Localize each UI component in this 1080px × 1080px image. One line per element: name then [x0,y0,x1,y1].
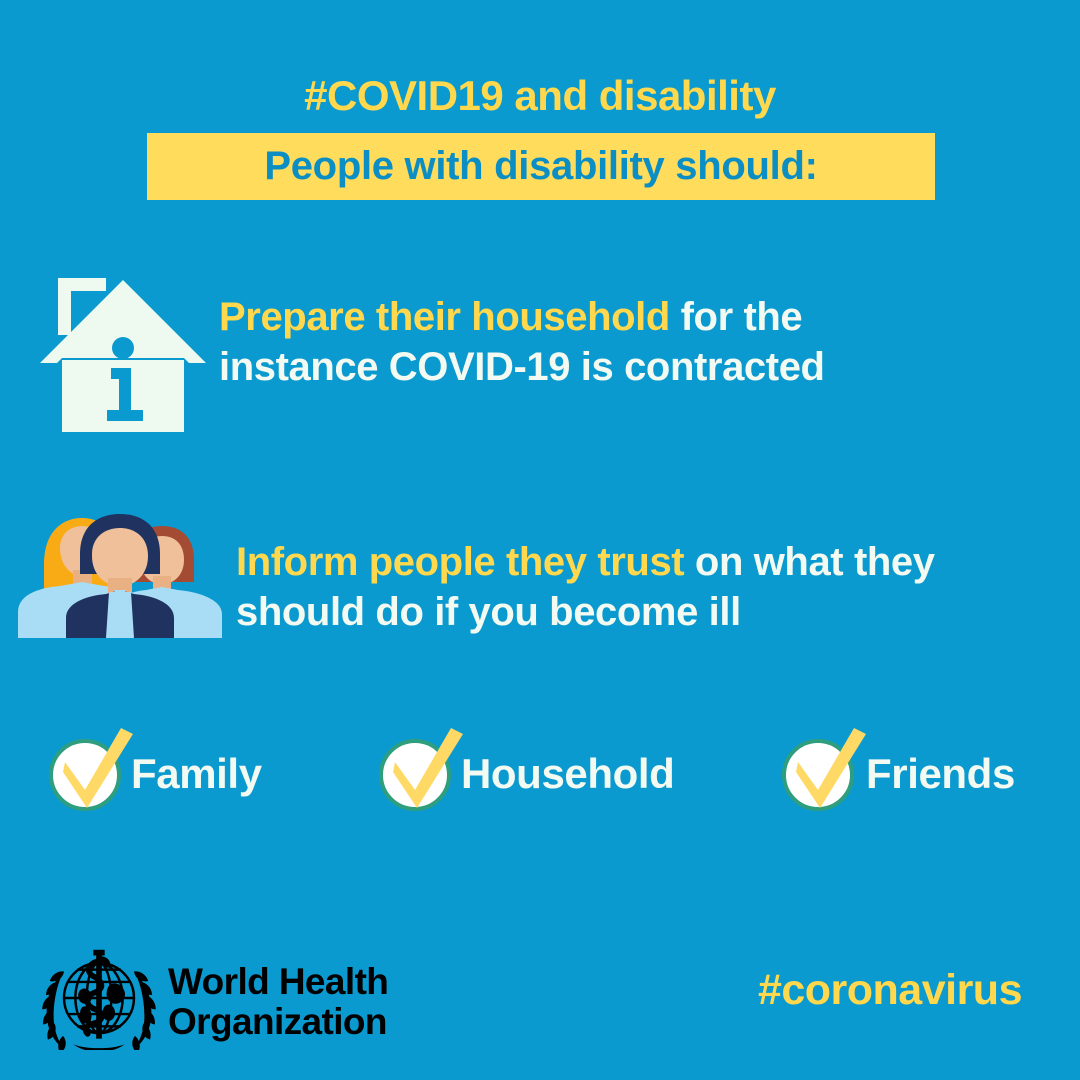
group-of-people-icon [14,508,226,638]
who-emblem-icon [36,946,162,1050]
coronavirus-hashtag: #coronavirus [758,966,1022,1015]
page-title: #COVID19 and disability [0,72,1080,120]
subtitle-banner: People with disability should: [147,133,935,200]
who-wordmark: World Health Organization [168,962,388,1042]
message-text-2: Inform people they trust on what they sh… [236,537,966,637]
check-circle-icon [375,728,470,818]
checklist-label: Family [131,750,262,798]
message-highlight-2: Inform people they trust [236,540,684,584]
checklist-label: Household [461,750,674,798]
check-circle-icon [778,728,873,818]
subtitle-banner-label: People with disability should: [147,133,935,200]
who-wordmark-line1: World Health [168,962,388,1002]
infographic-canvas: #COVID19 and disability People with disa… [0,0,1080,1080]
message-highlight-1: Prepare their household [219,295,670,339]
message-text-1: Prepare their household for the instance… [219,292,939,392]
who-wordmark-line2: Organization [168,1002,388,1042]
checklist-label: Friends [866,750,1015,798]
check-circle-icon [45,728,140,818]
house-info-icon [40,262,206,432]
